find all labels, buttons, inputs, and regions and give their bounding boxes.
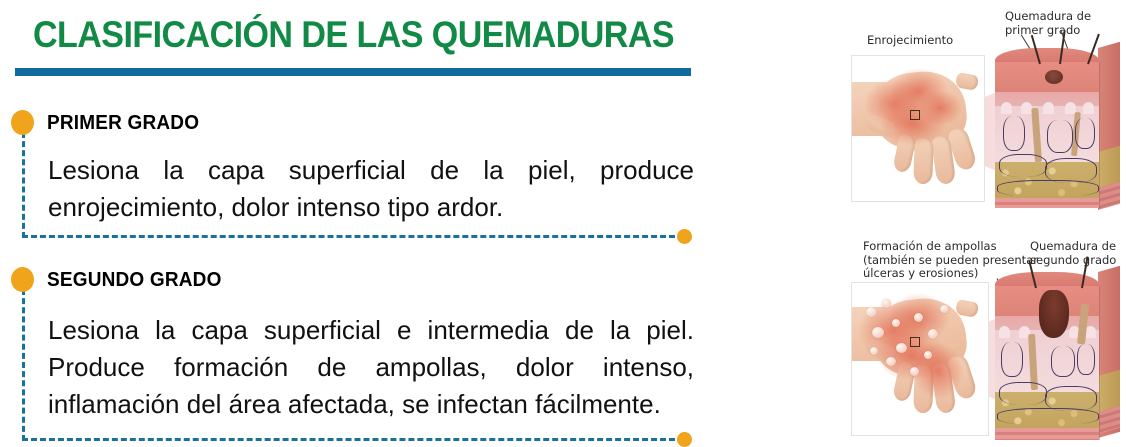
blood-vessel [1051,346,1075,377]
illustration-caption-right: Quemadura de segundo grado [1030,240,1116,267]
sample-area-marker [910,110,920,120]
blood-vessel [997,408,1099,425]
blister [870,347,878,355]
muscle-layer [995,428,1099,440]
hand-photo-panel [851,282,989,436]
blood-vessel [1075,118,1095,149]
page-title: CLASIFICACIÓN DE LAS QUEMADURAS [33,14,674,56]
block-front-face [995,62,1100,208]
bullet-dot-icon [11,110,34,135]
bullet-dot-icon [11,267,34,292]
blood-vessel [1047,120,1073,153]
blister [940,305,949,313]
illustration-primer-grado: Enrojecimiento Quemadura de primer grado [845,0,1126,228]
text-column: CLASIFICACIÓN DE LAS QUEMADURAS PRIMER G… [0,0,760,447]
frame-end-dot-icon [677,229,692,244]
muscle-layer [995,198,1099,208]
body-line: inflamación del área afectada, se infect… [48,386,694,423]
blister [872,327,884,338]
illustration-segundo-grado: Formación de ampollas (también se pueden… [845,230,1126,447]
blister [896,343,907,353]
section-body: Lesiona la capa superficial de la piel, … [48,152,694,226]
blister [882,299,891,308]
dermal-papilla [999,326,1010,338]
blister [924,351,932,359]
dermal-papilla [1083,102,1094,114]
blister [866,307,877,317]
frame-end-dot-icon [677,432,692,447]
title-underline-rule [15,68,691,76]
body-line: Lesiona la capa superficial e intermedia… [48,312,694,349]
slide-root: CLASIFICACIÓN DE LAS QUEMADURAS PRIMER G… [0,0,1126,447]
blood-vessel [1001,342,1023,377]
blood-vessel [1003,116,1025,151]
redness-patch [918,90,962,126]
blister [886,357,896,366]
blister [928,329,938,339]
body-line: Lesiona la capa superficial de la piel, … [48,152,694,189]
body-line: enrojecimiento, dolor intenso tipo ardor… [48,189,694,226]
body-line: Produce formación de ampollas, dolor int… [48,349,694,386]
redness-patch [912,343,964,399]
blood-vessel [997,180,1099,197]
blister [914,313,923,322]
second-degree-burn-lesion [1039,290,1069,338]
block-front-face [995,286,1100,440]
blood-vessel [999,154,1047,177]
blood-vessel [1077,344,1095,375]
hand-photo-panel [851,55,985,202]
section-body: Lesiona la capa superficial e intermedia… [48,312,694,423]
illustration-caption-left: Enrojecimiento [867,34,953,48]
dermal-papilla [1021,102,1032,114]
dermal-papilla [1001,102,1012,114]
skin-cross-section-block [995,272,1121,440]
sample-area-marker [910,337,920,347]
illustration-caption-right: Quemadura de primer grado [1005,10,1091,37]
first-degree-burn-lesion [1045,70,1063,84]
blister [910,367,919,376]
blood-vessel [999,382,1047,405]
dermal-papilla [1043,102,1054,114]
block-side-muscle-layer [1098,182,1120,210]
skin-cross-section-block [995,48,1119,208]
blister [892,319,900,327]
